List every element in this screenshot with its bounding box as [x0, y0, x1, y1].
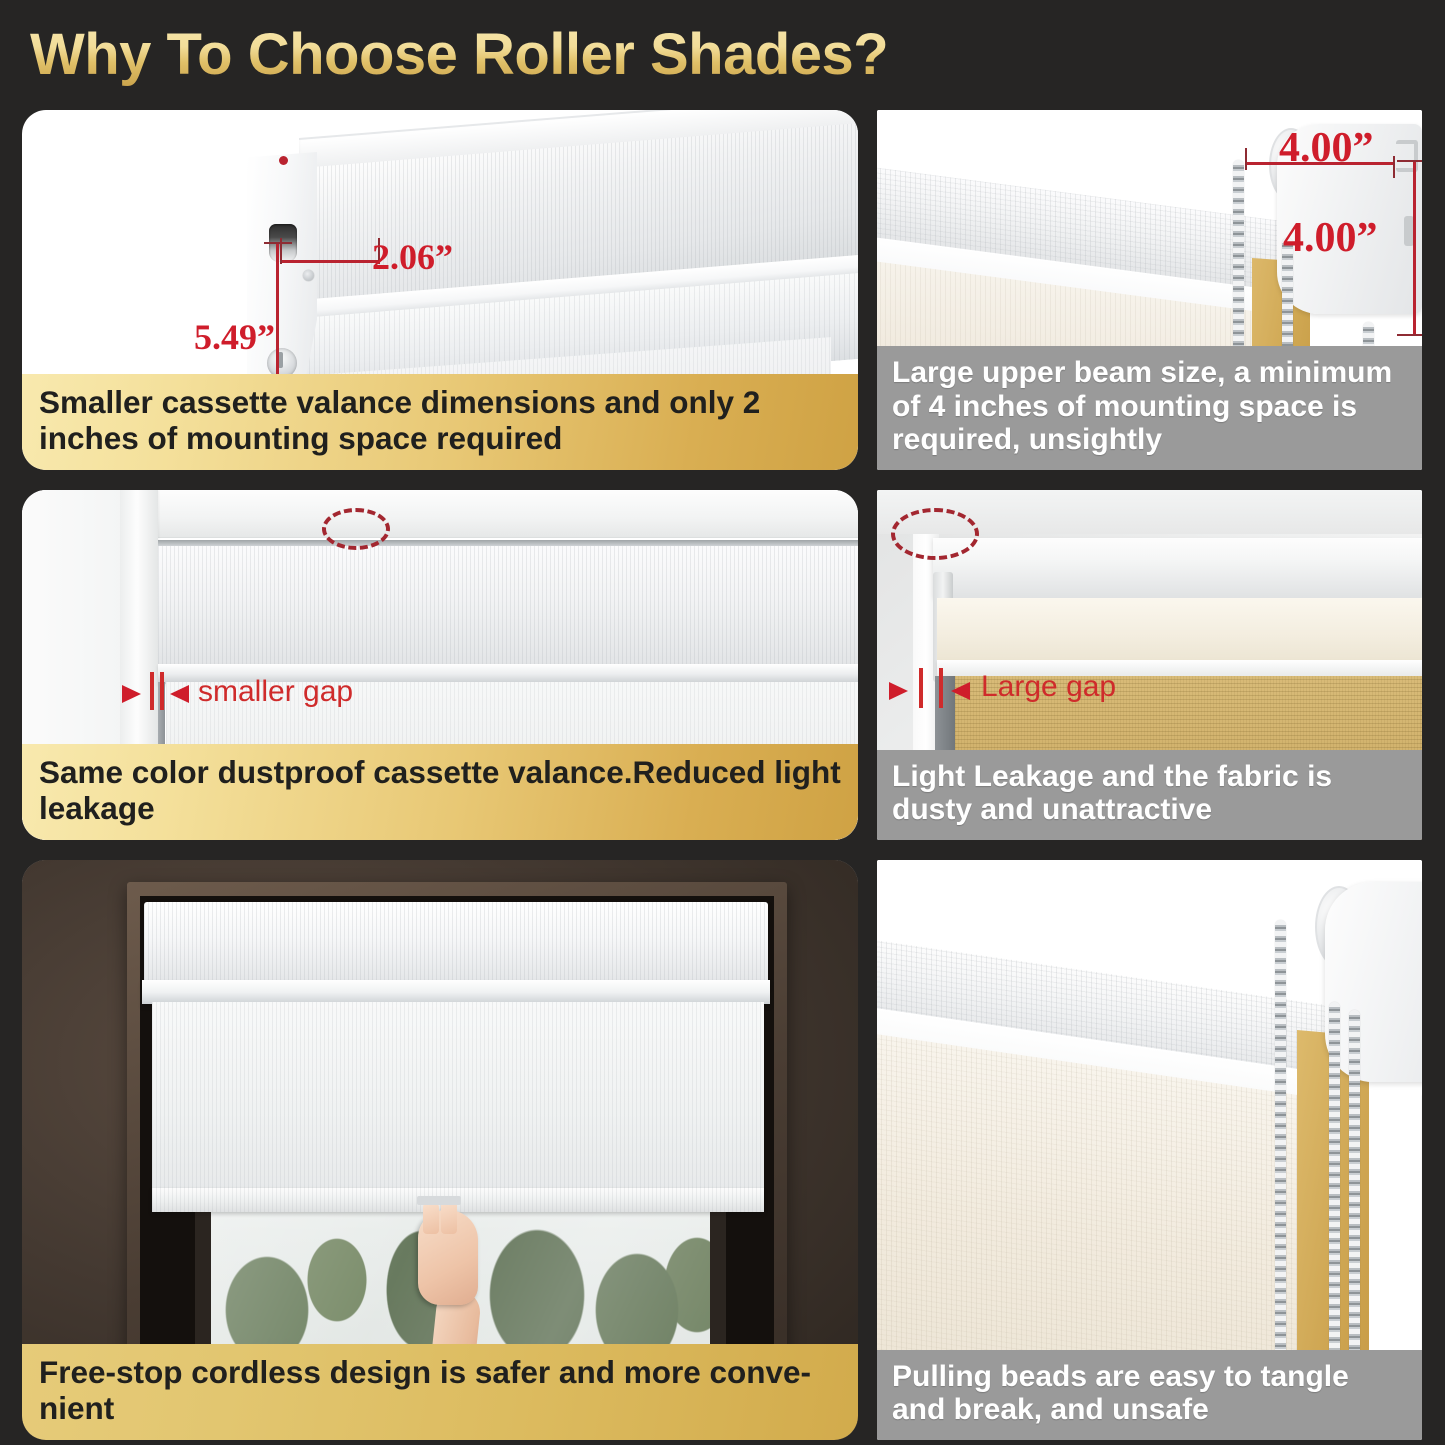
panel-pulling-beads[interactable]: Pulling beads are easy to tangle and bre…: [877, 860, 1422, 1440]
panel-light-leakage[interactable]: Large gap Light Leakage and the fabric i…: [877, 490, 1422, 840]
dimension-label-beam-height: 4.00”: [1283, 214, 1378, 262]
panel-grid: 2.06” 5.49” Smaller cassette valance dim…: [22, 110, 1422, 1430]
gap-label-large: Large gap: [981, 670, 1116, 704]
panel-6-caption: Pulling beads are easy to tangle and bre…: [877, 1350, 1422, 1440]
bead-chain: [1329, 1002, 1340, 1400]
gap-label-smaller: smaller gap: [198, 675, 353, 709]
dimension-label-depth: 2.06”: [372, 236, 453, 278]
bead-chain: [1275, 920, 1286, 1400]
panel-2-caption: Large upper beam size, a minimum of 4 in…: [877, 346, 1422, 470]
panel-dustproof-cassette[interactable]: smaller gap Same color dustproof cassett…: [22, 490, 858, 840]
highlight-ellipse-icon: [891, 508, 979, 560]
panel-3-caption: Same color dustproof cassette valance.Re…: [22, 744, 858, 840]
panel-5-caption: Free-stop cordless design is safer and m…: [22, 1344, 858, 1440]
bracket-screw-icon: [303, 270, 314, 281]
gap-arrow-left-icon: [122, 685, 141, 703]
panel-1-caption: Smaller cassette valance dimensions and …: [22, 374, 858, 470]
bottom-rail-grip: [417, 1196, 461, 1205]
page-title: Why To Choose Roller Shades?: [30, 21, 888, 88]
gap-arrow-right-icon: [951, 682, 970, 700]
panel-4-caption: Light Leakage and the fabric is dusty an…: [877, 750, 1422, 840]
bead-chain: [1349, 1010, 1360, 1400]
panel-large-upper-beam[interactable]: 4.00” 4.00” Large upper beam size, a min…: [877, 110, 1422, 470]
dimension-label-beam-width: 4.00”: [1279, 124, 1374, 172]
header-bar: Why To Choose Roller Shades?: [0, 0, 1445, 108]
panel-cordless-design[interactable]: Free-stop cordless design is safer and m…: [22, 860, 858, 1440]
dimension-label-height: 5.49”: [194, 316, 275, 358]
panel-smaller-cassette[interactable]: 2.06” 5.49” Smaller cassette valance dim…: [22, 110, 858, 470]
highlight-ellipse-icon: [322, 508, 390, 550]
gap-arrow-left-icon: [889, 682, 908, 700]
gap-arrow-right-icon: [170, 685, 189, 703]
